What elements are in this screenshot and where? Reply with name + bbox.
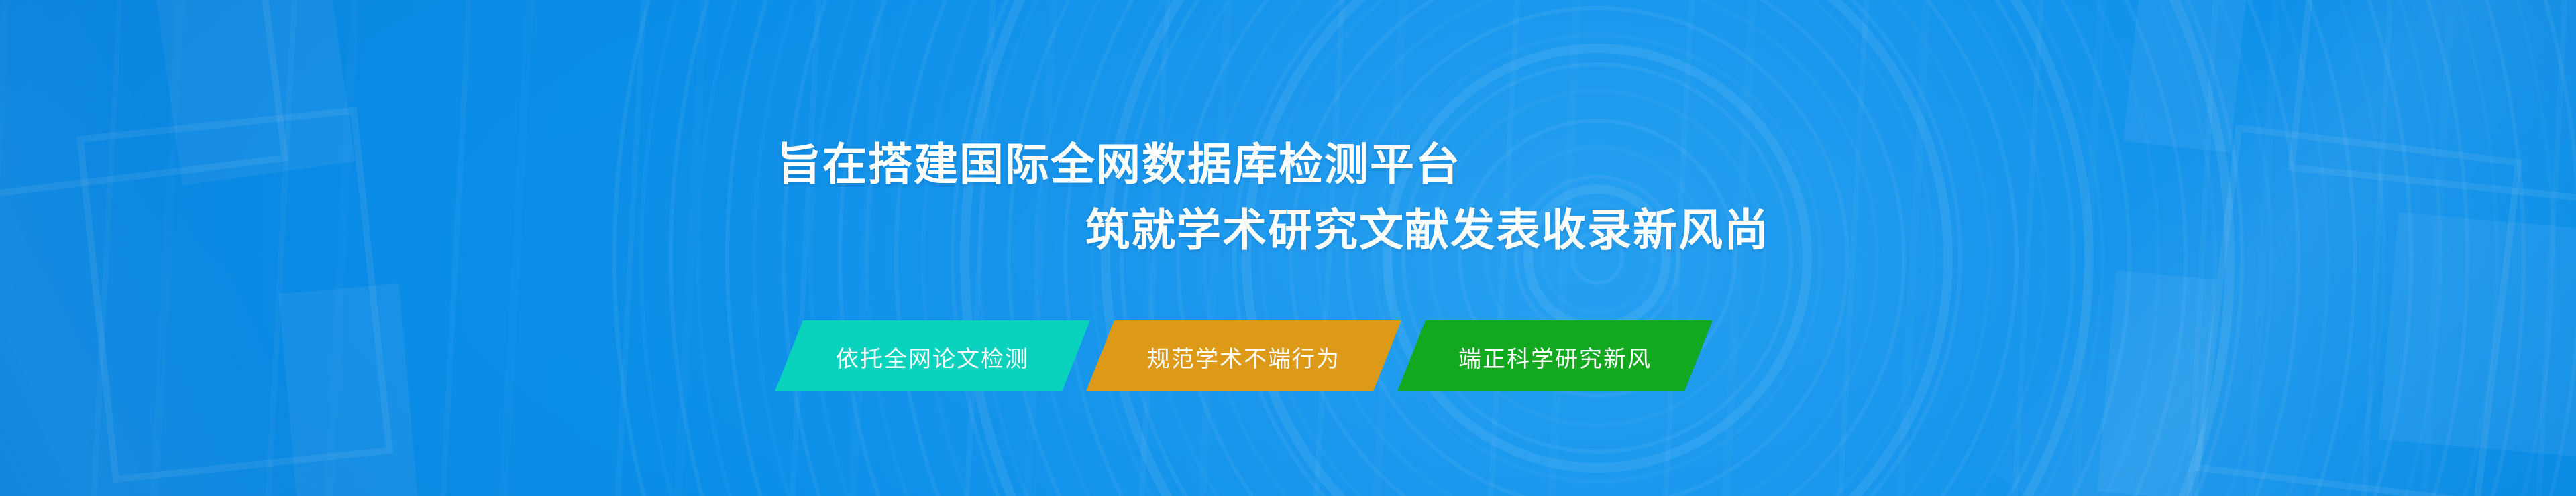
feature-tag-strip: 依托全网论文检测 规范学术不端行为 端正科学研究新风 — [775, 320, 1709, 391]
feature-tag-paper-detection[interactable]: 依托全网论文检测 — [775, 320, 1090, 391]
feature-tag-label: 规范学术不端行为 — [1147, 340, 1340, 373]
feature-tag-label: 依托全网论文检测 — [836, 340, 1029, 373]
headline-line-1: 旨在搭建国际全网数据库检测平台 — [0, 131, 2576, 197]
promo-banner: 旨在搭建国际全网数据库检测平台 筑就学术研究文献发表收录新风尚 依托全网论文检测… — [0, 0, 2576, 496]
feature-tag-research-integrity[interactable]: 端正科学研究新风 — [1397, 320, 1713, 391]
feature-tag-misconduct-regulation[interactable]: 规范学术不端行为 — [1086, 320, 1401, 391]
feature-tag-label: 端正科学研究新风 — [1458, 340, 1652, 373]
banner-content: 旨在搭建国际全网数据库检测平台 筑就学术研究文献发表收录新风尚 依托全网论文检测… — [0, 0, 2576, 496]
headline-line-2: 筑就学术研究文献发表收录新风尚 — [0, 197, 2576, 263]
headline-block: 旨在搭建国际全网数据库检测平台 筑就学术研究文献发表收录新风尚 — [0, 131, 2576, 263]
